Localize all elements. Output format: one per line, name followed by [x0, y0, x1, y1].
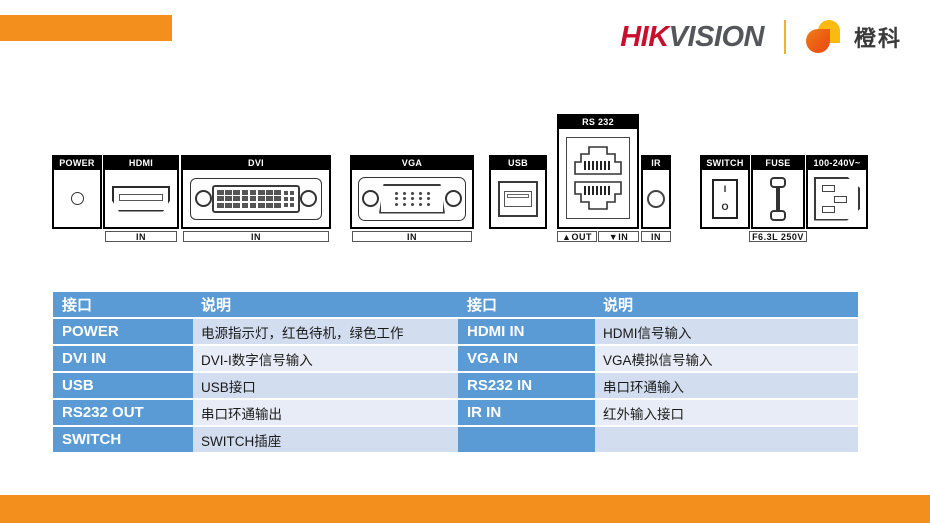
table-cell-val: HDMI信号输入: [595, 319, 858, 346]
table-cell-key: IR IN: [458, 400, 595, 427]
port-direction-tab-hdmi: IN: [105, 231, 177, 242]
table-header-val: 说明: [193, 292, 458, 319]
vga-dsub-shell: [379, 184, 445, 214]
dvi-pin-grid: [217, 190, 281, 208]
panel-module-vga: VGA: [350, 155, 474, 229]
hikvision-logo: HIK VISION: [620, 21, 764, 54]
table-row: DVI IN DVI-I数字信号输入: [53, 346, 458, 373]
port-direction-tab-ir: IN: [641, 231, 671, 242]
table-row: SWITCH SWITCH插座: [53, 427, 458, 454]
panel-module-usb: USB: [489, 155, 547, 229]
ac-pin-2: [834, 196, 847, 203]
ac-pin-1: [822, 185, 835, 192]
module-label-power: POWER: [54, 157, 100, 170]
module-body-ir: [643, 170, 669, 227]
table-cell-val: 串口环通输出: [193, 400, 458, 427]
led-indicator-icon: [71, 192, 84, 205]
hikvision-logo-red: HIK: [620, 21, 668, 54]
switch-on-mark: I: [724, 185, 727, 194]
module-label-rs232: RS 232: [559, 116, 637, 129]
ir-receiver-icon: [647, 190, 665, 208]
table-row: USB USB接口: [53, 373, 458, 400]
fuse-cap-bottom: [770, 210, 786, 221]
module-body-switch: I O: [702, 170, 748, 227]
panel-module-rs232: RS 232: [557, 114, 639, 229]
brand-block: HIK VISION 橙科: [620, 18, 902, 56]
slide-page: HIK VISION 橙科 POWER HDMI: [0, 0, 930, 523]
bottom-accent-bar: [0, 495, 930, 523]
module-body-usb: [491, 170, 545, 227]
module-label-hdmi: HDMI: [105, 157, 177, 170]
dvi-analog-pins: [284, 191, 295, 207]
panel-module-ac-inlet: 100-240V~: [806, 155, 868, 229]
table-header-key: 接口: [458, 292, 595, 319]
table-cell-key: DVI IN: [53, 346, 193, 373]
table-cell-key: USB: [53, 373, 193, 400]
hdmi-port-inner: [119, 194, 163, 201]
chengke-logo-icon: [806, 20, 840, 54]
dvi-pin-block: [212, 185, 300, 213]
hikvision-logo-gray: VISION: [669, 21, 764, 54]
module-label-usb: USB: [491, 157, 545, 170]
hdmi-port-icon: [112, 186, 170, 212]
panel-module-ir: IR: [641, 155, 671, 229]
table-cell-val: USB接口: [193, 373, 458, 400]
table-header-key: 接口: [53, 292, 193, 319]
table-cell-key: [458, 427, 595, 454]
table-cell-val: 红外输入接口: [595, 400, 858, 427]
vga-pin-row-3: [395, 203, 430, 206]
top-accent-bar: [0, 15, 172, 41]
vga-pin-row-1: [395, 192, 430, 195]
port-direction-tab-dvi: IN: [183, 231, 329, 242]
vga-pin-row-2: [395, 197, 430, 200]
module-body-dvi: [183, 170, 329, 227]
table-row: IR IN 红外输入接口: [458, 400, 858, 427]
panel-module-dvi: DVI: [181, 155, 331, 229]
partner-name: 橙科: [854, 21, 902, 53]
table-row: RS232 OUT 串口环通输出: [53, 400, 458, 427]
panel-module-fuse: FUSE: [751, 155, 805, 229]
module-label-switch: SWITCH: [702, 157, 748, 170]
module-label-ir: IR: [643, 157, 669, 170]
module-label-fuse: FUSE: [753, 157, 803, 170]
table-cell-key: VGA IN: [458, 346, 595, 373]
dvi-port-icon: [190, 178, 322, 220]
brand-divider: [784, 20, 786, 54]
logo-orange-leaf: [806, 29, 830, 53]
usb-port-inner: [504, 191, 532, 207]
module-label-ac-inlet: 100-240V~: [808, 157, 866, 170]
table-half-right: 接口 说明 HDMI IN HDMI信号输入 VGA IN VGA模拟信号输入 …: [458, 292, 858, 454]
table-cell-val: 串口环通输入: [595, 373, 858, 400]
rj45-port-in: [572, 179, 624, 212]
table-cell-key: SWITCH: [53, 427, 193, 454]
module-body-hdmi: [105, 170, 177, 227]
vga-port-icon: [358, 177, 466, 221]
table-cell-key: POWER: [53, 319, 193, 346]
dvi-screw-right-icon: [300, 190, 317, 207]
fuse-body: [776, 187, 780, 212]
vga-screw-left-icon: [362, 190, 379, 207]
module-label-vga: VGA: [352, 157, 472, 170]
port-direction-tab-rs232-out: ▲OUT: [557, 231, 597, 242]
port-direction-tab-rs232-in: ▼IN: [598, 231, 639, 242]
table-row: [458, 427, 858, 454]
table-cell-key: RS232 OUT: [53, 400, 193, 427]
table-row: HDMI IN HDMI信号输入: [458, 319, 858, 346]
rear-panel-diagram: POWER HDMI IN DVI: [0, 100, 930, 250]
panel-module-hdmi: HDMI: [103, 155, 179, 229]
module-body-power: [54, 170, 100, 227]
table-row: RS232 IN 串口环通输入: [458, 373, 858, 400]
table-cell-key: RS232 IN: [458, 373, 595, 400]
port-direction-tab-vga: IN: [352, 231, 472, 242]
usb-port-icon: [498, 181, 538, 217]
table-cell-val: [595, 427, 858, 454]
table-half-left: 接口 说明 POWER 电源指示灯，红色待机，绿色工作 DVI IN DVI-I…: [53, 292, 458, 454]
table-header-row: 接口 说明: [458, 292, 858, 319]
module-body-vga: [352, 170, 472, 227]
panel-module-power: POWER: [52, 155, 102, 229]
module-body-fuse: [753, 170, 803, 227]
ac-pin-3: [822, 206, 835, 213]
vga-screw-right-icon: [445, 190, 462, 207]
module-body-rs232: [559, 129, 637, 227]
table-cell-val: SWITCH插座: [193, 427, 458, 454]
fuse-rating-label: F6.3L 250V: [749, 231, 807, 242]
table-row: VGA IN VGA模拟信号输入: [458, 346, 858, 373]
table-cell-key: HDMI IN: [458, 319, 595, 346]
ac-inlet-icon: [814, 177, 860, 221]
module-body-ac-inlet: [808, 170, 866, 227]
table-header-row: 接口 说明: [53, 292, 458, 319]
rj45-port-out: [572, 144, 624, 177]
switch-off-mark: O: [721, 203, 728, 212]
table-row: POWER 电源指示灯，红色待机，绿色工作: [53, 319, 458, 346]
table-cell-val: DVI-I数字信号输入: [193, 346, 458, 373]
rj45-dual-port-icon: [566, 137, 630, 219]
table-cell-val: VGA模拟信号输入: [595, 346, 858, 373]
interface-description-table: 接口 说明 POWER 电源指示灯，红色待机，绿色工作 DVI IN DVI-I…: [53, 292, 858, 454]
panel-module-switch: SWITCH I O: [700, 155, 750, 229]
table-header-val: 说明: [595, 292, 858, 319]
module-label-dvi: DVI: [183, 157, 329, 170]
table-cell-val: 电源指示灯，红色待机，绿色工作: [193, 319, 458, 346]
rocker-switch-icon: I O: [712, 179, 738, 219]
fuse-icon: [770, 177, 786, 221]
dvi-screw-left-icon: [195, 190, 212, 207]
